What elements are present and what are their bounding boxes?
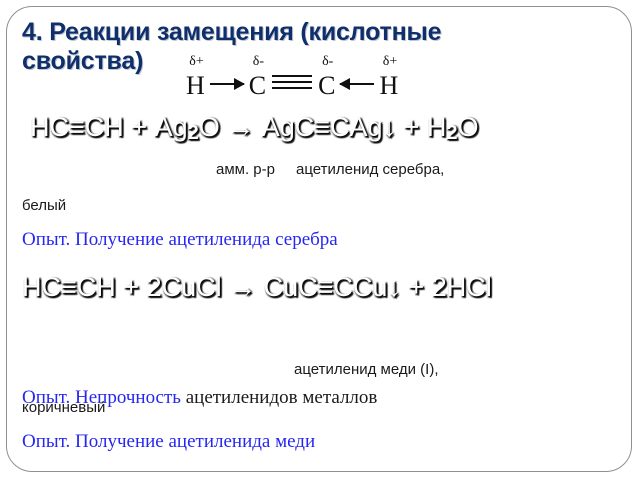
eq1-reagent-silver-oxide-sub: 2 (188, 122, 199, 144)
eq1-precipitate-icon: ↓ (383, 112, 397, 142)
eq2-precipitate-icon: ↓ (387, 272, 401, 302)
equation-silver-acetylide: HC≡CH + Ag2O → AgC≡CAg↓ + H2O (30, 110, 479, 150)
atom-label-c-left: C (249, 73, 266, 99)
eq2-product-hcl: 2HCl (432, 272, 492, 302)
caption-white-color: белый (22, 196, 66, 216)
equation-copper-acetylide: HC≡CH + 2CuCl → CuC≡CCu↓ + 2HCl (22, 270, 582, 304)
atom-label-h-left: H (186, 73, 205, 99)
delta-charge-c-left: δ- (253, 55, 264, 69)
eq2-reagent-acetylene: HC≡CH (22, 272, 116, 302)
experiment2-black-label: ацетиленидов металлов (181, 387, 377, 408)
delta-charge-h-left: δ+ (189, 55, 204, 69)
experiment-link-silver-acetylide[interactable]: Опыт. Получение ацетиленида серебра (22, 228, 338, 252)
experiment2-blue-label[interactable]: Опыт. Непрочность (22, 387, 181, 408)
atom-label-h-right: H (379, 73, 398, 99)
eq1-product-water-pre: H (427, 112, 447, 142)
delta-charge-h-right: δ+ (383, 55, 398, 69)
atom-h-right: δ+ H (379, 56, 398, 99)
eq2-plus-2: + (408, 272, 424, 302)
eq1-arrow: → (227, 112, 254, 142)
eq1-plus-1: + (131, 112, 147, 142)
eq1-product-silver-acetylide: AgC≡CAg (262, 112, 383, 142)
eq1-reagent-silver-oxide-pre: Ag (155, 112, 188, 142)
eq1-plus-2: + (404, 112, 420, 142)
eq1-reagent-silver-oxide-post: O (199, 112, 220, 142)
experiment-link-acetylide-instability[interactable]: Опыт. Непрочность ацетиленидов металлов (22, 386, 377, 410)
triple-bond-icon (272, 69, 312, 95)
atom-c-left: δ- C (249, 56, 266, 99)
caption-silver-acetylide-name: ацетиленид серебра, (296, 160, 444, 180)
atom-h-left: δ+ H (186, 56, 205, 99)
atom-c-right: δ- C (318, 56, 335, 99)
eq1-product-water-post: O (458, 112, 479, 142)
eq2-product-copper-acetylide: CuC≡CCu (264, 272, 388, 302)
eq2-arrow: → (229, 272, 256, 302)
atom-label-c-right: C (318, 73, 335, 99)
eq2-reagent-copper-chloride: 2CuCl (147, 272, 222, 302)
delta-charge-c-right: δ- (322, 55, 333, 69)
eq1-product-water-sub: 2 (446, 122, 457, 144)
arrow-right-icon (210, 70, 244, 96)
slide-canvas: 4. Реакции замещения (кислотные свойства… (0, 0, 640, 480)
arrow-left-icon (340, 70, 374, 96)
acetylene-structural-formula: δ+ H δ- C δ- C δ+ H (186, 56, 398, 108)
experiment-link-copper-acetylide[interactable]: Опыт. Получение ацетиленида меди (22, 430, 315, 454)
caption-ammonia-solution: амм. р-р (216, 160, 275, 180)
caption-copper-acetylide-name: ацетиленид меди (I), (294, 360, 439, 380)
page-title-line1: 4. Реакции замещения (кислотные (22, 18, 441, 46)
eq2-plus-1: + (123, 272, 139, 302)
eq1-reagent-acetylene: HC≡CH (30, 112, 124, 142)
